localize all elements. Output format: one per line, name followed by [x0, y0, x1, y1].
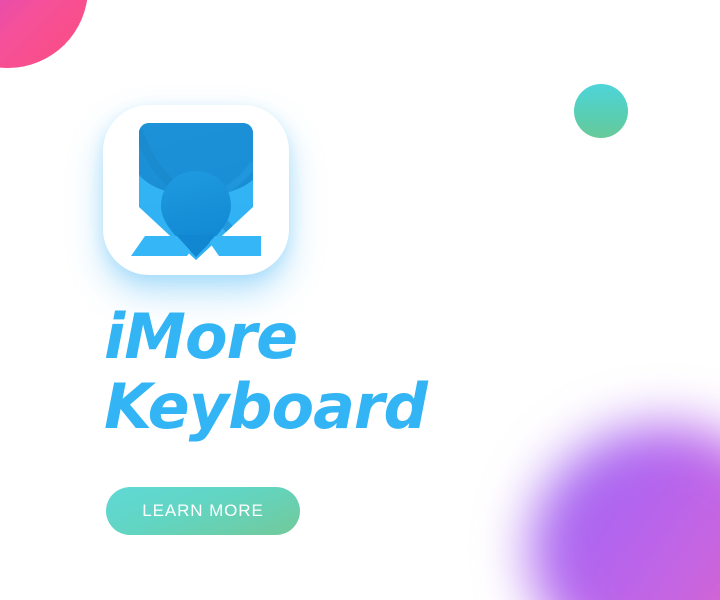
app-icon-card: [103, 105, 289, 275]
teal-circle-decoration: [574, 84, 628, 138]
pink-circle-decoration: [0, 0, 88, 68]
promo-banner: iMore Keyboard LEARN MORE: [0, 0, 720, 600]
page-title: iMore Keyboard: [104, 302, 524, 442]
purple-blob-decoration: [530, 425, 720, 600]
learn-more-button[interactable]: LEARN MORE: [106, 487, 300, 535]
imore-keyboard-app-icon: [103, 105, 289, 275]
